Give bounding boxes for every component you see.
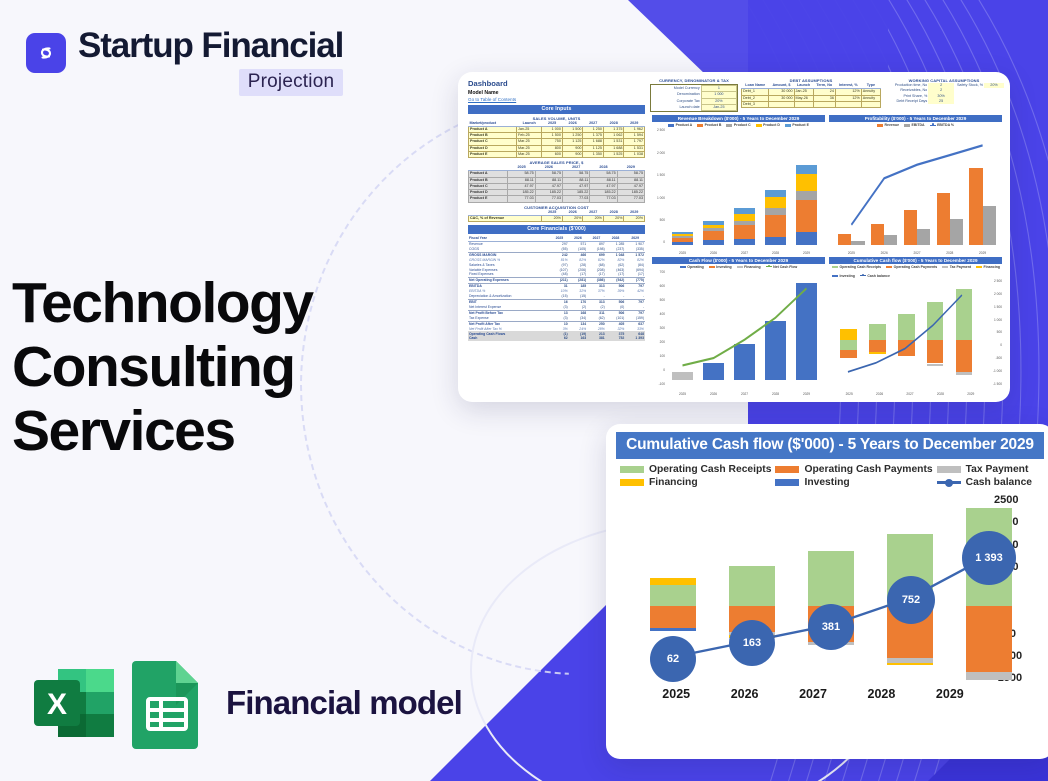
core-financials-table: Fiscal Year 2025 2026 2027 2028 2029 Rev… <box>468 236 645 341</box>
bars-group <box>835 130 999 244</box>
cumulative-cash-flow-chart-mini[interactable]: Cumulative Cash flow ($'000) - 5 Years t… <box>827 257 1004 397</box>
dashboard-screenshot-card[interactable]: Dashboard Model Name Go to Table of Cont… <box>458 72 1010 402</box>
debt-assumptions-box: DEBT ASSUMPTIONS Loan Name Amount, $ Lau… <box>741 78 881 108</box>
x-axis-labels: 2025 2026 2027 2028 2029 <box>834 392 986 396</box>
working-capital-box: WORKING CAPITAL ASSUMPTIONS Production t… <box>884 78 1004 104</box>
legend-item-investing: Investing <box>775 477 932 488</box>
chart-plot-area: 2500 2000 1500 1000 500 0 -500 -1000 -15… <box>616 494 1044 699</box>
google-sheets-icon <box>130 657 204 749</box>
banner-stage: Startup Financial Projection Technology … <box>0 0 1048 781</box>
data-label-2025: 62 <box>650 636 696 682</box>
legend-item-operating-receipts: Operating Cash Receipts <box>620 464 771 475</box>
legend-item-cash-balance: Cash balance <box>937 477 1038 488</box>
data-label-2029: 1 393 <box>962 531 1016 585</box>
dashboard-left-panel: Dashboard Model Name Go to Table of Cont… <box>464 78 648 396</box>
page-title: Technology Consulting Services <box>12 272 412 463</box>
dashboard-right-panel: CURRENCY, DENOMINATOR & TAX Model Curren… <box>648 78 1004 396</box>
model-name-label: Model Name <box>468 90 645 96</box>
table-of-contents-link[interactable]: Go to Table of Contents <box>468 97 645 102</box>
core-inputs-bar: Core Inputs <box>468 105 645 114</box>
data-label-2026: 163 <box>729 620 775 666</box>
cac-table: 2025 2026 2027 2028 2029 CAC, % of Reven… <box>468 210 645 223</box>
bars-group: 62 163 381 752 1 393 <box>642 494 984 684</box>
chart-title: Revenue Breakdown ($'000) - 5 Years to D… <box>652 115 825 122</box>
bars-group <box>667 130 822 244</box>
revenue-breakdown-chart[interactable]: Revenue Breakdown ($'000) - 5 Years to D… <box>650 115 827 255</box>
chart-legend: Operating Cash Receipts Operating Cash P… <box>829 265 1002 278</box>
table-row: Product E 77.03 77.03 77.03 77.03 77.03 <box>469 196 645 202</box>
cumulative-cash-flow-card[interactable]: Cumulative Cash flow ($'000) - 5 Years t… <box>606 424 1048 759</box>
x-axis-labels: 2025 2026 2027 2028 2029 <box>667 392 822 396</box>
y-axis-labels: 2 500 2 000 1 500 1 000 500 0 <box>652 128 665 244</box>
core-financials-bar: Core Financials ($'000) <box>468 225 645 234</box>
brand-title: Startup Financial <box>78 28 343 65</box>
table-row: Cash621633817521 393 <box>468 336 645 341</box>
y-axis-labels: 2 500 2 000 1 500 1 000 500 0 -500 -1 00… <box>988 279 1002 386</box>
cash-flow-chart[interactable]: Cash Flow ($'000) - 5 Years to December … <box>650 257 827 397</box>
bar-2027 <box>808 494 854 684</box>
table-row: CAC, % of Revenue 20% 20% 20% 20% 20% <box>469 215 645 221</box>
dashboard-heading: Dashboard <box>468 80 645 89</box>
legend-item-tax-payment: Tax Payment <box>937 464 1038 475</box>
chart-legend: Revenue EBITDA EBITDA % <box>829 123 1002 127</box>
chart-title: Profitability ($'000) - 5 Years to Decem… <box>829 115 1002 122</box>
svg-text:X: X <box>47 688 67 721</box>
bar-2029 <box>966 494 1012 684</box>
table-row: Debt_3 <box>742 101 881 107</box>
table-row: Product E Mar-25 600 900 1 350 1 525 1 0… <box>469 151 645 157</box>
chart-title: Cumulative Cash flow ($'000) - 5 Years t… <box>616 432 1044 459</box>
profitability-chart[interactable]: Profitability ($'000) - 5 Years to Decem… <box>827 115 1004 255</box>
y-axis-labels: 700 600 500 400 300 200 100 0 -100 <box>652 270 665 386</box>
brand-logo: Startup Financial Projection <box>26 28 343 96</box>
file-format-row: X Financial model <box>28 657 462 749</box>
chart-legend: Operating Investing Financing Net Cash F… <box>652 265 825 269</box>
x-axis-labels: 2025 2026 2027 2028 2029 <box>835 251 999 255</box>
microsoft-excel-icon: X <box>28 657 120 749</box>
sales-volume-table: Market/product Launch 2025 2026 2027 202… <box>468 121 645 159</box>
infinity-swirl-icon <box>26 33 66 73</box>
avg-price-table: 2025 2026 2027 2028 2029 Product A 58.75… <box>468 165 645 203</box>
brand-subtitle: Projection <box>239 69 344 96</box>
data-label-2027: 381 <box>808 604 854 650</box>
data-label-2028: 752 <box>887 576 935 624</box>
chart-legend: Product A Product B Product C Product D … <box>652 123 825 127</box>
financial-model-label: Financial model <box>226 684 462 722</box>
chart-legend: Operating Cash Receipts Operating Cash P… <box>616 459 1044 490</box>
chart-title: Cash Flow ($'000) - 5 Years to December … <box>652 257 825 264</box>
x-axis-labels: 2025 2026 2027 2028 2029 <box>642 687 984 701</box>
currency-assumptions-box: CURRENCY, DENOMINATOR & TAX Model Curren… <box>650 78 738 113</box>
x-axis-labels: 2025 2026 2027 2028 2029 <box>667 251 822 255</box>
legend-item-financing: Financing <box>620 477 771 488</box>
chart-title: Cumulative Cash flow ($'000) - 5 Years t… <box>829 257 1002 264</box>
legend-item-operating-payments: Operating Cash Payments <box>775 464 932 475</box>
